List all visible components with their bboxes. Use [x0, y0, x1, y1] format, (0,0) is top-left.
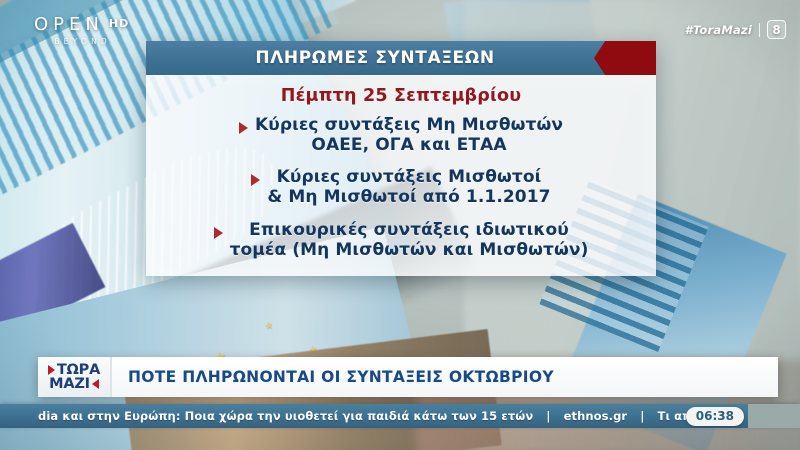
list-item: Κύριες συντάξεις Μισθωτοί & Μη Μισθωτοί … [158, 168, 644, 207]
show-name-line1: ΤΩΡΑ [57, 363, 100, 378]
ticker-content: dia και στην Ευρώπη: Ποια χώρα την υιοθε… [0, 409, 686, 423]
headline-text: ΠΟΤΕ ΠΛΗΡΩΝΟΝΤΑΙ ΟΙ ΣΥΝΤΑΞΕΙΣ ΟΚΤΩΒΡΙΟΥ [110, 357, 778, 397]
hashtag-label: #ToraMazi [685, 23, 760, 37]
ticker-separator-right: | [640, 409, 644, 423]
list-item: Επικουρικές συντάξεις ιδιωτικού τομέα (Μ… [158, 221, 644, 260]
broadcast-stage: ★ ★ ★ ★ ★ OPEN HD BEYOND #ToraMazi 8 ΠΛΗ… [0, 0, 800, 450]
list-item-line: τομέα (Μη Μισθωτών και Μισθωτών) [230, 241, 589, 261]
list-item-text: Κύριες συντάξεις Μισθωτοί & Μη Μισθωτοί … [267, 168, 550, 207]
clock: 06:38 [686, 407, 744, 426]
list-item: Κύριες συντάξεις Μη Μισθωτών ΟΑΕΕ, ΟΓΑ κ… [158, 116, 644, 155]
ticker-source: ethnos.gr [564, 409, 628, 423]
list-item-line: & Μη Μισθωτοί από 1.1.2017 [267, 188, 550, 208]
ticker-story: dia και στην Ευρώπη: Ποια χώρα την υιοθε… [38, 409, 533, 423]
triangle-bullet-icon [214, 227, 223, 239]
triangle-bullet-icon [239, 122, 248, 134]
channel-logo-tagline: BEYOND [34, 37, 129, 46]
list-item-line: Επικουρικές συντάξεις ιδιωτικού [230, 221, 589, 241]
info-panel-body: Πέμπτη 25 Σεπτεμβρίου Κύριες συντάξεις Μ… [146, 75, 656, 276]
info-panel-title: ΠΛΗΡΩΜΕΣ ΣΥΝΤΑΞΕΩΝ [255, 48, 546, 68]
list-item-line: Κύριες συντάξεις Μη Μισθωτών [255, 116, 563, 136]
channel-number-badge: 8 [767, 20, 786, 39]
triangle-left-icon [92, 379, 99, 389]
triangle-bullet-icon [251, 174, 260, 186]
info-panel: ΠΛΗΡΩΜΕΣ ΣΥΝΤΑΞΕΩΝ Πέμπτη 25 Σεπτεμβρίου… [146, 41, 656, 276]
ticker-right-edge [748, 404, 800, 428]
list-item-text: Κύριες συντάξεις Μη Μισθωτών ΟΑΕΕ, ΟΓΑ κ… [255, 116, 563, 155]
info-panel-header: ΠΛΗΡΩΜΕΣ ΣΥΝΤΑΞΕΩΝ [146, 41, 656, 75]
ticker-separator-left: | [546, 409, 550, 423]
chevron-left-icon [594, 41, 656, 75]
ticker-next-story: Τι αποκαλύπτο [658, 409, 686, 423]
news-ticker: dia και στην Ευρώπη: Ποια χώρα την υιοθε… [0, 404, 800, 428]
list-item-text: Επικουρικές συντάξεις ιδιωτικού τομέα (Μ… [230, 221, 589, 260]
hashtag-group: #ToraMazi 8 [685, 20, 786, 39]
channel-logo-name: OPEN [34, 14, 104, 35]
channel-logo: OPEN HD BEYOND [34, 14, 129, 46]
info-panel-date: Πέμπτη 25 Σεπτεμβρίου [158, 86, 644, 106]
channel-logo-quality: HD [109, 17, 129, 30]
show-logo: ΤΩΡΑ ΜΑΖΙ [38, 357, 110, 397]
list-item-line: ΟΑΕΕ, ΟΓΑ και ΕΤΑΑ [255, 136, 563, 156]
triangle-right-icon [48, 365, 55, 375]
lower-third: ΤΩΡΑ ΜΑΖΙ ΠΟΤΕ ΠΛΗΡΩΝΟΝΤΑΙ ΟΙ ΣΥΝΤΑΞΕΙΣ … [38, 357, 778, 397]
show-name-line2: ΜΑΖΙ [49, 377, 90, 392]
list-item-line: Κύριες συντάξεις Μισθωτοί [267, 168, 550, 188]
